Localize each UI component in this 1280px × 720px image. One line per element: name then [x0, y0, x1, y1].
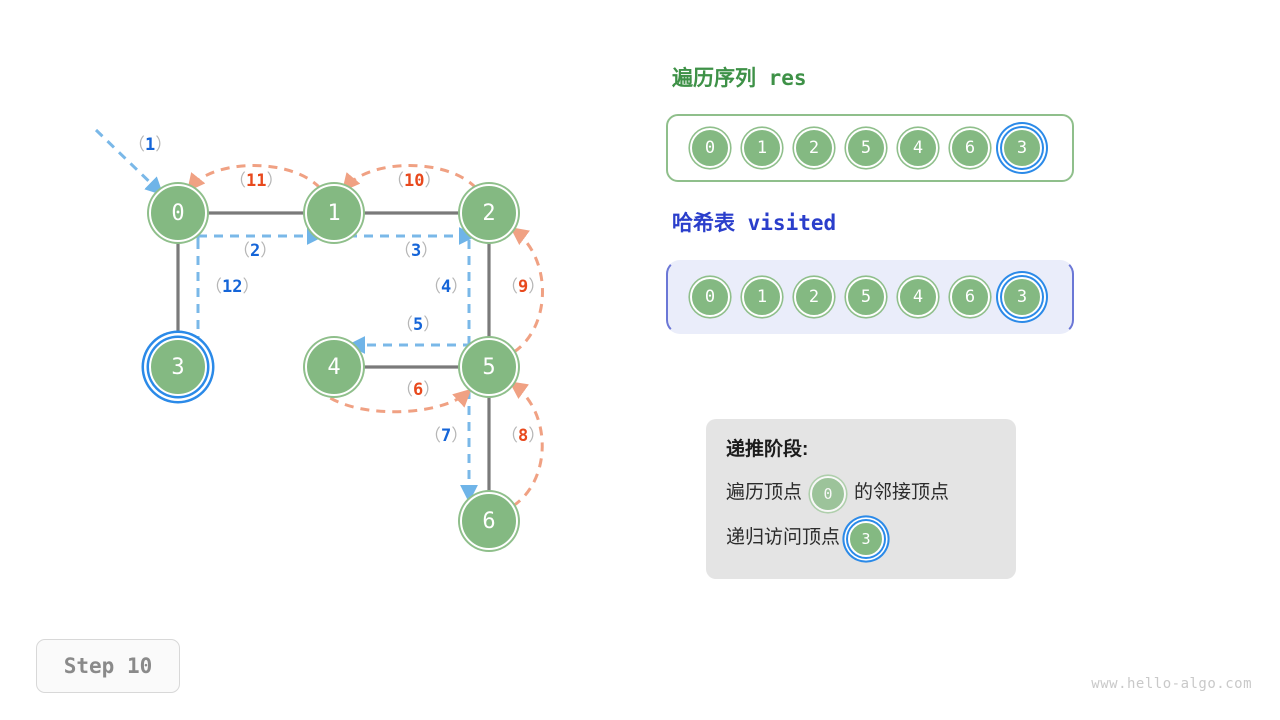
step-label-10: （10）	[387, 173, 441, 190]
graph-node-2[interactable]: 2	[460, 184, 518, 242]
info-heading: 递推阶段:	[726, 439, 996, 462]
step-label-8: （8）	[501, 428, 545, 445]
graph-node-1[interactable]: 1	[305, 184, 363, 242]
right-panel: 遍历序列 res 0 1 2 5 4 6 3 哈希表 visited 0 1 2…	[640, 0, 1280, 720]
slide-canvas: 0 1 2 3 4 5 6 （1） （2） （3） （4） （5） （6） （7…	[0, 0, 1280, 720]
graph-node-3[interactable]: 3	[149, 338, 207, 396]
info-line1-prefix: 遍历顶点	[726, 482, 802, 505]
step-label-7: （7）	[424, 428, 468, 445]
graph-node-2-label: 2	[482, 201, 495, 226]
res-cell-3[interactable]: 5	[846, 128, 886, 168]
step-badge: Step 10	[36, 639, 180, 693]
graph-node-1-label: 1	[327, 201, 340, 226]
res-array: 0 1 2 5 4 6 3	[666, 114, 1074, 182]
step-label-12: （12）	[205, 279, 259, 296]
info-line-recurse: 递归访问顶点 3	[726, 521, 996, 557]
step-label-1: （1）	[128, 137, 172, 154]
res-cell-5[interactable]: 6	[950, 128, 990, 168]
visited-cell-4[interactable]: 4	[898, 277, 938, 317]
step-label-2: （2）	[233, 243, 277, 260]
graph-node-6[interactable]: 6	[460, 492, 518, 550]
res-cell-4[interactable]: 4	[898, 128, 938, 168]
graph-node-4[interactable]: 4	[305, 338, 363, 396]
graph-node-6-label: 6	[482, 509, 495, 534]
graph-node-4-label: 4	[327, 355, 340, 380]
graph-node-5-label: 5	[482, 355, 495, 380]
res-cell-2[interactable]: 2	[794, 128, 834, 168]
watermark: www.hello-algo.com	[1091, 676, 1252, 692]
visited-cell-2[interactable]: 2	[794, 277, 834, 317]
graph-node-5[interactable]: 5	[460, 338, 518, 396]
info-panel: 递推阶段: 遍历顶点 0 的邻接顶点 递归访问顶点 3	[706, 419, 1016, 579]
graph-node-0[interactable]: 0	[149, 184, 207, 242]
graph-node-0-label: 0	[171, 201, 184, 226]
step-label-6: （6）	[396, 382, 440, 399]
info-line-traverse: 遍历顶点 0 的邻接顶点	[726, 476, 996, 512]
step-label-9: （9）	[501, 279, 545, 296]
graph-node-3-label: 3	[171, 355, 184, 380]
visited-cell-6[interactable]: 3	[1002, 277, 1042, 317]
step-label-5: （5）	[396, 317, 440, 334]
res-cell-6[interactable]: 3	[1002, 128, 1042, 168]
info-chip-vertex-0: 0	[810, 476, 846, 512]
graph-panel: 0 1 2 3 4 5 6 （1） （2） （3） （4） （5） （6） （7…	[0, 0, 640, 620]
res-title: 遍历序列 res	[672, 62, 807, 92]
graph-edges-svg	[0, 0, 640, 620]
step-label-11: （11）	[229, 173, 283, 190]
step-label-3: （3）	[394, 243, 438, 260]
visited-array: 0 1 2 5 4 6 3	[666, 260, 1074, 334]
visited-cell-1[interactable]: 1	[742, 277, 782, 317]
visited-cell-5[interactable]: 6	[950, 277, 990, 317]
info-line2-prefix: 递归访问顶点	[726, 527, 840, 550]
info-chip-vertex-3: 3	[848, 521, 884, 557]
step-label-4: （4）	[424, 279, 468, 296]
visited-cell-0[interactable]: 0	[690, 277, 730, 317]
info-line1-suffix: 的邻接顶点	[854, 482, 949, 505]
visited-cell-3[interactable]: 5	[846, 277, 886, 317]
visited-title: 哈希表 visited	[672, 207, 836, 237]
res-cell-0[interactable]: 0	[690, 128, 730, 168]
res-cell-1[interactable]: 1	[742, 128, 782, 168]
